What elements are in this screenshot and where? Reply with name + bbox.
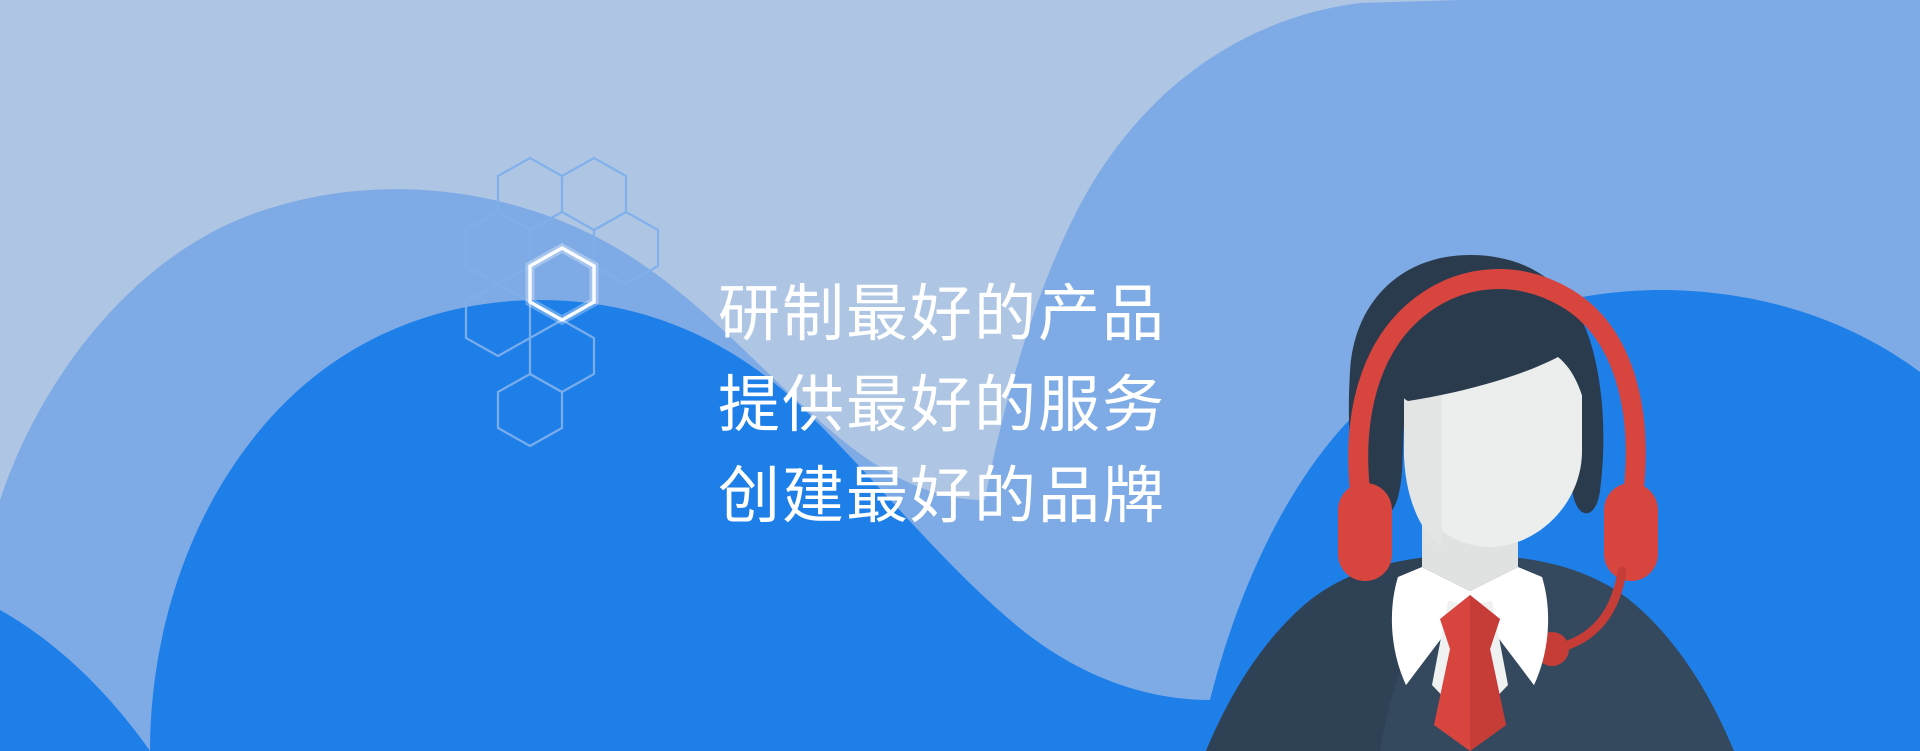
call-center-agent-illustration (1190, 255, 1750, 751)
headset-earcup-left (1338, 483, 1392, 581)
hexagon-shape (498, 158, 562, 230)
headline-line-3: 创建最好的品牌 (718, 450, 1166, 541)
hexagon-pattern (420, 140, 740, 480)
hexagon-shape (466, 284, 530, 356)
hero-banner: 研制最好的产品 提供最好的服务 创建最好的品牌 (0, 0, 1920, 751)
headline-line-1: 研制最好的产品 (718, 268, 1166, 359)
hexagon-shape (498, 374, 562, 446)
headline-line-2: 提供最好的服务 (718, 359, 1166, 450)
headset-earcup-right (1604, 483, 1658, 581)
hexagon-shape (562, 158, 626, 230)
hexagon-shape (594, 212, 658, 284)
headline-block: 研制最好的产品 提供最好的服务 创建最好的品牌 (718, 268, 1166, 541)
hexagon-highlight-shape (530, 248, 594, 320)
hexagon-shape (530, 320, 594, 392)
hexagon-shape (466, 212, 530, 284)
